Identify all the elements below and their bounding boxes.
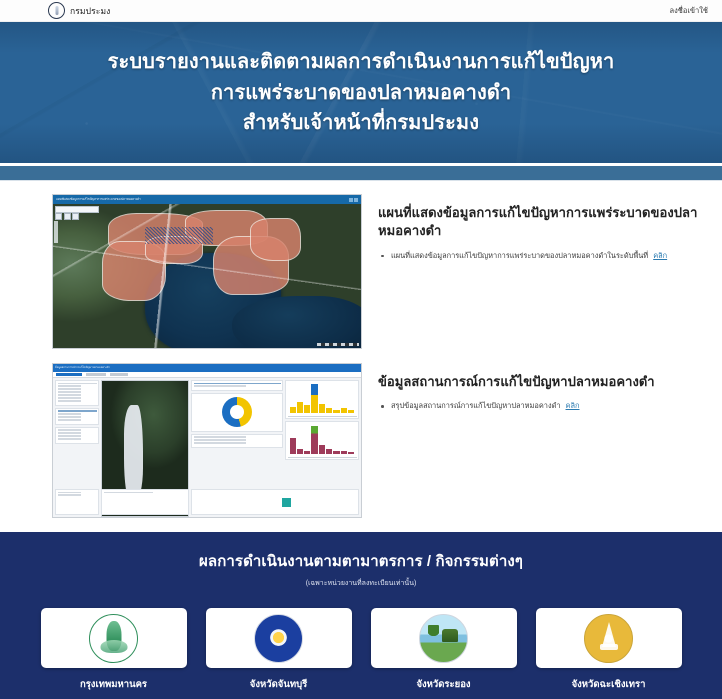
- dashboard-bottom-row: [55, 489, 359, 515]
- top-navbar: กรมประมง ลงชื่อเข้าใช้: [0, 0, 722, 22]
- section-map: แผนที่แสดงข้อมูลการแก้ไขปัญหาการแพร่ระบา…: [0, 194, 722, 349]
- content-area: แผนที่แสดงข้อมูลการแก้ไขปัญหาการแพร่ระบา…: [0, 181, 722, 518]
- province-card-label: กรุงเทพมหานคร: [41, 677, 187, 692]
- section-dashboard-bullets: สรุปข้อมูลสถานการณ์การแก้ไขปัญหาปลาหมอคา…: [378, 400, 704, 411]
- bangkok-seal-icon: [89, 614, 138, 663]
- section-map-text: แผนที่แสดงข้อมูลการแก้ไขปัญหาการแพร่ระบา…: [362, 194, 704, 261]
- province-card-chachoengsao[interactable]: จังหวัดฉะเชิงเทรา: [536, 608, 682, 692]
- gis-canvas: [53, 204, 361, 348]
- brand[interactable]: กรมประมง: [48, 2, 110, 19]
- gis-titlebar-text: แผนที่แสดงข้อมูลการแก้ไขปัญหาการแพร่ระบา…: [56, 197, 141, 202]
- gis-map-screenshot[interactable]: แผนที่แสดงข้อมูลการแก้ไขปัญหาการแพร่ระบา…: [52, 194, 362, 349]
- donut-chart-icon: [222, 397, 252, 427]
- window-controls-icon: [349, 198, 359, 202]
- bottom-card-1: [55, 489, 99, 515]
- legend-card: [55, 408, 99, 425]
- hero-banner: ระบบรายงานและติดตามผลการดำเนินงานการแก้ไ…: [0, 22, 722, 163]
- province-card-bangkok[interactable]: กรุงเทพมหานคร: [41, 608, 187, 692]
- page-root: กรมประมง ลงชื่อเข้าใช้ ระบบรายงานและติดต…: [0, 0, 722, 699]
- dashboard-titlebar: ข้อมูลสถานการณ์การแก้ไขปัญหาปลาหมอคางดำ: [53, 364, 361, 372]
- results-section: ผลการดำเนินงานตามตามาตรการ / กิจกรรมต่าง…: [0, 532, 722, 699]
- chachoengsao-seal-icon: [584, 614, 633, 663]
- list-item: สรุปข้อมูลสถานการณ์การแก้ไขปัญหาปลาหมอคา…: [378, 400, 704, 411]
- donut-chart-widget[interactable]: [191, 393, 283, 432]
- map-scalebar-icon: [317, 343, 359, 346]
- province-card-rayong[interactable]: จังหวัดระยอง: [371, 608, 517, 692]
- map-zoom-controls[interactable]: [54, 221, 58, 243]
- province-card-label: จังหวัดจันทบุรี: [206, 677, 352, 692]
- gis-titlebar: แผนที่แสดงข้อมูลการแก้ไขปัญหาการแพร่ระบา…: [53, 195, 361, 204]
- chanthaburi-seal-icon: [254, 614, 303, 663]
- province-cards: กรุงเทพมหานคร จังหวัดจันทบุรี จังหวัดระย…: [14, 608, 708, 692]
- bullet-text: สรุปข้อมูลสถานการณ์การแก้ไขปัญหาปลาหมอคา…: [391, 401, 561, 410]
- hero-title-line-2: การแพร่ระบาดของปลาหมอคางดำ: [211, 80, 511, 108]
- bottom-card-3: [191, 489, 359, 515]
- legend-card-3: [191, 434, 283, 448]
- login-link[interactable]: ลงชื่อเข้าใช้: [669, 5, 708, 17]
- legend-card-2: [55, 427, 99, 444]
- hero-title-line-3: สำหรับเจ้าหน้าที่กรมประมง: [243, 110, 479, 138]
- bottom-card-2: [101, 489, 189, 515]
- section-dashboard-text: ข้อมูลสถานการณ์การแก้ไขปัญหาปลาหมอคางดำ …: [362, 363, 704, 412]
- province-card-label: จังหวัดระยอง: [371, 677, 517, 692]
- map-toolbar[interactable]: [55, 213, 79, 220]
- map-click-link[interactable]: คลิก: [653, 251, 667, 260]
- kpi-card: [191, 380, 283, 391]
- rayong-seal-icon: [419, 614, 468, 663]
- list-item: แผนที่แสดงข้อมูลการแก้ไขปัญหาการแพร่ระบา…: [378, 250, 704, 261]
- hero-bottom-band: [0, 166, 722, 181]
- road-network: [53, 204, 361, 348]
- section-dashboard-heading: ข้อมูลสถานการณ์การแก้ไขปัญหาปลาหมอคางดำ: [378, 373, 704, 391]
- dashboard-titlebar-text: ข้อมูลสถานการณ์การแก้ไขปัญหาปลาหมอคางดำ: [55, 366, 110, 370]
- brand-label: กรมประมง: [70, 4, 110, 18]
- dashboard-tabs[interactable]: [53, 372, 361, 378]
- bar-chart-widget-2[interactable]: [285, 421, 359, 460]
- province-card-chanthaburi[interactable]: จังหวัดจันทบุรี: [206, 608, 352, 692]
- fisheries-department-seal-icon: [48, 2, 65, 19]
- hero-title-line-1: ระบบรายงานและติดตามผลการดำเนินงานการแก้ไ…: [108, 49, 615, 77]
- bar-chart-widget-1[interactable]: [285, 380, 359, 419]
- bullet-text: แผนที่แสดงข้อมูลการแก้ไขปัญหาการแพร่ระบา…: [391, 251, 648, 260]
- dashboard-click-link[interactable]: คลิก: [566, 401, 580, 410]
- teal-indicator-icon: [282, 498, 291, 507]
- filter-card: [55, 380, 99, 406]
- section-dashboard: ข้อมูลสถานการณ์การแก้ไขปัญหาปลาหมอคางดำ: [0, 363, 722, 518]
- results-title: ผลการดำเนินงานตามตามาตรการ / กิจกรรมต่าง…: [14, 549, 708, 573]
- results-subtitle: (เฉพาะหน่วยงานที่ลงทะเบียนเท่านั้น): [14, 578, 708, 589]
- section-map-bullets: แผนที่แสดงข้อมูลการแก้ไขปัญหาการแพร่ระบา…: [378, 250, 704, 261]
- province-card-label: จังหวัดฉะเชิงเทรา: [536, 677, 682, 692]
- dashboard-screenshot[interactable]: ข้อมูลสถานการณ์การแก้ไขปัญหาปลาหมอคางดำ: [52, 363, 362, 518]
- map-search-input[interactable]: [55, 206, 99, 213]
- section-map-heading: แผนที่แสดงข้อมูลการแก้ไขปัญหาการแพร่ระบา…: [378, 204, 704, 241]
